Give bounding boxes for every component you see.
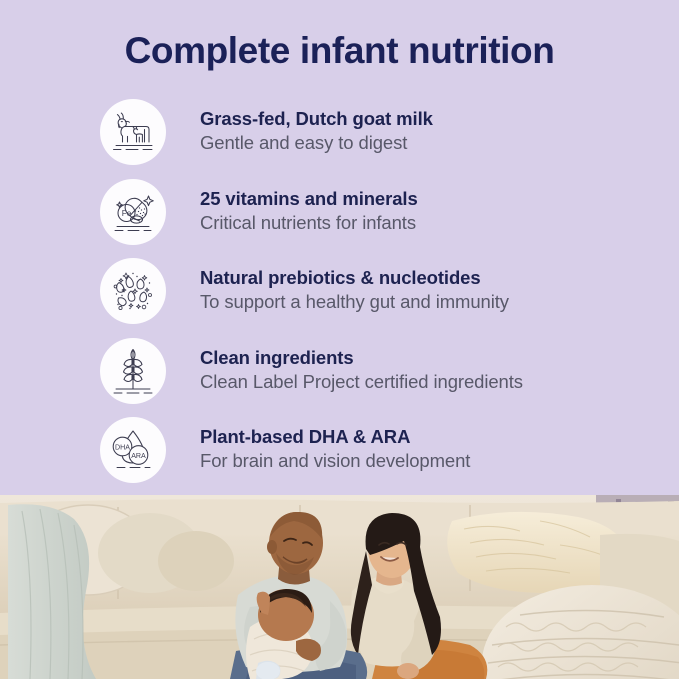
- vitamin-capsule-icon: Fe: [100, 179, 166, 245]
- dha-label: DHA: [115, 444, 130, 452]
- fe-label: Fe: [122, 209, 132, 218]
- product-feature-card: Complete infant nutrition: [0, 0, 679, 679]
- feature-text: 25 vitamins and minerals Critical nutrie…: [166, 179, 660, 235]
- feature-row: Clean ingredients Clean Label Project ce…: [100, 338, 660, 418]
- feature-row: Fe 25 vitamins and: [100, 179, 660, 259]
- feature-text: Grass-fed, Dutch goat milk Gentle and ea…: [166, 99, 660, 155]
- feature-text: Plant-based DHA & ARA For brain and visi…: [166, 417, 660, 473]
- feature-list: Grass-fed, Dutch goat milk Gentle and ea…: [100, 99, 660, 497]
- goat-icon: [100, 99, 166, 165]
- lifestyle-photo: [0, 495, 679, 679]
- wheat-plant-icon: [100, 338, 166, 404]
- feature-subtitle: For brain and vision development: [200, 449, 660, 473]
- ara-label: ARA: [131, 452, 146, 460]
- feature-row: Grass-fed, Dutch goat milk Gentle and ea…: [100, 99, 660, 179]
- feature-subtitle: Critical nutrients for infants: [200, 211, 660, 235]
- feature-title: Plant-based DHA & ARA: [200, 425, 660, 448]
- feature-title: 25 vitamins and minerals: [200, 187, 660, 210]
- feature-title: Natural prebiotics & nucleotides: [200, 266, 660, 289]
- feature-text: Clean ingredients Clean Label Project ce…: [166, 338, 660, 394]
- page-title: Complete infant nutrition: [0, 29, 679, 73]
- feature-row: Natural prebiotics & nucleotides To supp…: [100, 258, 660, 338]
- feature-subtitle: Clean Label Project certified ingredient…: [200, 370, 660, 394]
- feature-text: Natural prebiotics & nucleotides To supp…: [166, 258, 660, 314]
- dha-ara-droplet-icon: DHA ARA: [100, 417, 166, 483]
- feature-title: Grass-fed, Dutch goat milk: [200, 107, 660, 130]
- feature-subtitle: Gentle and easy to digest: [200, 131, 660, 155]
- feature-panel: Complete infant nutrition: [0, 0, 679, 495]
- feature-title: Clean ingredients: [200, 346, 660, 369]
- feature-subtitle: To support a healthy gut and immunity: [200, 290, 660, 314]
- probiotic-bacteria-icon: [100, 258, 166, 324]
- feature-row: DHA ARA Plant-based DHA & ARA For brain …: [100, 417, 660, 497]
